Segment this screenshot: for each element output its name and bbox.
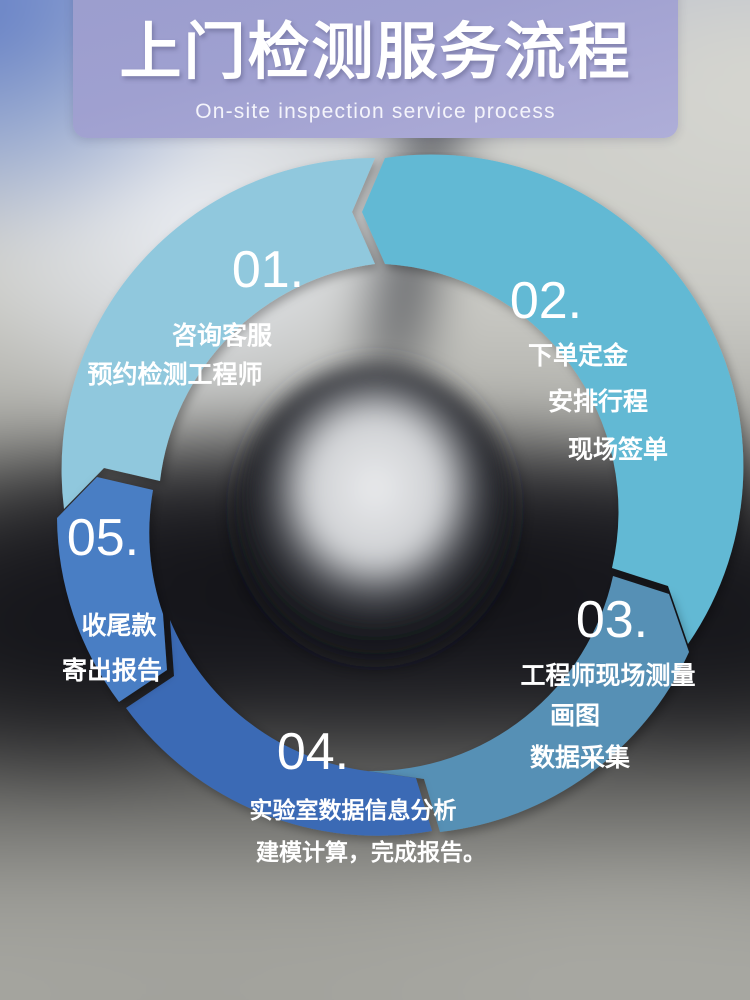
page-title: 上门检测服务流程 [119, 22, 631, 84]
process-donut-chart: 01. 咨询客服 预约检测工程师 02. 下单定金 安排行程 现场签单 03. … [0, 152, 750, 902]
segment-02-number: 02. [510, 272, 582, 330]
segment-02-line-3: 现场签单 [568, 435, 668, 464]
segment-03-number: 03. [576, 591, 648, 649]
segment-01-line-1: 咨询客服 [172, 321, 273, 350]
segment-03-line-2: 画图 [550, 702, 600, 730]
segment-04-line-2: 建模计算，完成报告。 [256, 839, 486, 865]
segment-03-line-1: 工程师现场测量 [520, 662, 695, 690]
donut-svg: 01. 咨询客服 预约检测工程师 02. 下单定金 安排行程 现场签单 03. … [0, 152, 750, 902]
segment-04-line-1: 实验室数据信息分析 [250, 797, 457, 823]
segment-02-line-1: 下单定金 [528, 341, 629, 370]
segment-03-line-3: 数据采集 [530, 743, 631, 772]
header-banner: 上门检测服务流程 On-site inspection service proc… [73, 0, 678, 138]
segment-05-line-1: 收尾款 [81, 612, 157, 640]
segment-04-number: 04. [277, 723, 349, 781]
segment-01-number: 01. [232, 241, 304, 299]
segment-01-line-2: 预约检测工程师 [87, 360, 262, 389]
segment-05-line-2: 寄出报告 [62, 656, 162, 685]
page-subtitle: On-site inspection service process [195, 100, 556, 124]
segment-05-number: 05. [67, 509, 139, 567]
donut-center-hole [237, 364, 513, 660]
segment-02-line-2: 安排行程 [548, 387, 648, 416]
